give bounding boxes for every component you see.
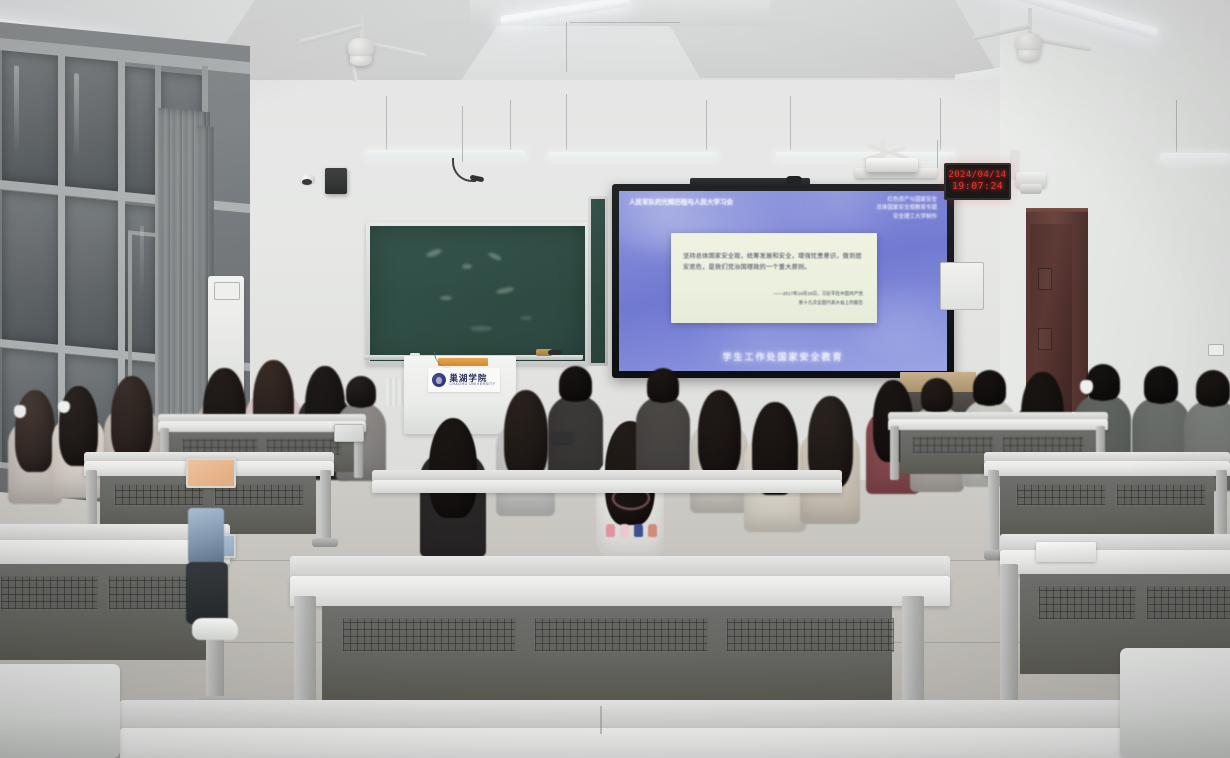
slide-footer: 学生工作处国家安全教育 [619,350,947,363]
hoodie-print-character [620,524,629,537]
projector [866,158,918,172]
cabinet-panel [214,282,240,300]
desk-row-foremost [120,700,1130,758]
slide-quote-text: 坚持总体国家安全观，统筹发展和安全，增强忧患意识，做到居安思危，是我们党治国理政… [683,251,865,274]
person-hair [921,378,953,412]
overhead-camera-icon [786,176,802,184]
mic-boom-wire [462,106,463,162]
projector-cable [937,140,938,168]
person-hair [1144,366,1179,403]
window-pane [2,190,60,346]
dome-camera-icon [299,174,315,186]
blackboard [366,222,589,365]
person-hair [504,390,548,480]
window-glare-1 [14,65,19,153]
bullet-camera-icon [1016,172,1046,187]
slide-quote-source-2: 第十九次全国代表大会上的报告 [774,299,863,307]
led-clock: 2024/04/14 19:07:24 [944,163,1011,200]
side-blackboard [588,196,608,366]
lectern-microphone [548,350,562,355]
person-hair [15,390,55,472]
hoodie-print-character [634,524,643,537]
face-mask [14,405,26,418]
chair-back-left [0,664,120,758]
slide-quote-source-1: ——2017年10月18日，习近平在中国共产党 [774,290,863,298]
blackboard-surface [370,226,585,361]
desk-foremost-seam [600,706,602,734]
slide-header: 人民军队的光辉历程与人民大学习会 红色资产与国家安全 总体国家安全观教育专题 安… [629,196,937,220]
hoodie-print-character [606,524,615,537]
slide-header-right: 红色资产与国家安全 总体国家安全观教育专题 安全理工大学制作 [876,196,937,221]
light-hanger-3 [566,94,567,150]
tablet-device-1[interactable] [186,458,236,488]
university-name-cn: 巢湖学院 [449,374,487,383]
person-hair [698,390,741,479]
window-pane [2,50,60,186]
notebook-stack [1036,542,1096,562]
light-hanger-1 [386,96,387,152]
bag-dark [186,562,228,624]
classroom-photo: 人民军队的光辉历程与人民大学习会 红色资产与国家安全 总体国家安全观教育专题 安… [0,0,1230,758]
face-mask [1080,380,1093,394]
wall-speaker [325,168,347,194]
person-hair [1196,370,1230,406]
hanging-lamp-1 [366,150,526,159]
slide-quote-source: ——2017年10月18日，习近平在中国共产党 第十九次全国代表大会上的报告 [774,290,863,307]
desk-row-mid-center [372,470,842,510]
wall-control-panel[interactable] [940,262,984,310]
window-pane [64,56,120,191]
ceiling-conduit-1 [570,22,680,23]
tablet-device-3[interactable] [334,424,364,442]
hanging-lamp-4 [1160,153,1230,162]
door-panel-lower [1038,328,1052,350]
lectern-nameplate: 巢湖学院 CHAOHU UNIVERSITY [428,368,500,392]
person-hair [346,376,375,407]
clock-time: 19:07:24 [952,182,1003,192]
wall-socket[interactable] [1208,344,1224,356]
door-panel-upper [1038,268,1052,290]
shoe-white [192,618,238,640]
window-glare-3 [140,225,144,295]
window-pane [64,196,120,351]
university-name-en: CHAOHU UNIVERSITY [449,383,495,386]
hoodie-print-character [648,524,657,537]
person-hair [559,366,592,401]
slide-header-left: 人民军队的光辉历程与人民大学习会 [629,196,733,206]
hanging-lamp-2 [548,152,718,161]
hanging-jacket [188,508,224,568]
projection-screen: 人民军队的光辉历程与人民大学习会 红色资产与国家安全 总体国家安全观教育专题 安… [612,184,954,378]
light-hanger-5 [790,96,791,150]
window-pane [124,66,156,197]
university-seal-icon [432,373,446,387]
light-hanger-4 [706,100,707,150]
person-hair [973,370,1006,405]
chair-back-right [1120,648,1230,758]
slide-header-right-1: 红色资产与国家安全 [876,196,937,204]
light-hanger-6 [940,98,941,150]
light-hanger-7 [1176,100,1177,152]
light-hanger-2 [510,100,511,152]
projection-screen-surface: 人民军队的光辉历程与人民大学习会 红色资产与国家安全 总体国家安全观教育专题 安… [619,191,947,371]
slide-header-right-3: 安全理工大学制作 [876,213,937,221]
ceiling-conduit-2 [566,22,567,72]
window-glare-2 [74,73,79,159]
slide-quote-card: 坚持总体国家安全观，统筹发展和安全，增强忧患意识，做到居安思危，是我们党治国理政… [671,233,877,323]
person-hair [647,368,679,402]
person-hair [111,376,153,461]
slide-header-right-2: 总体国家安全观教育专题 [876,204,937,212]
clock-date: 2024/04/14 [948,171,1006,180]
phone-device[interactable] [552,432,572,443]
